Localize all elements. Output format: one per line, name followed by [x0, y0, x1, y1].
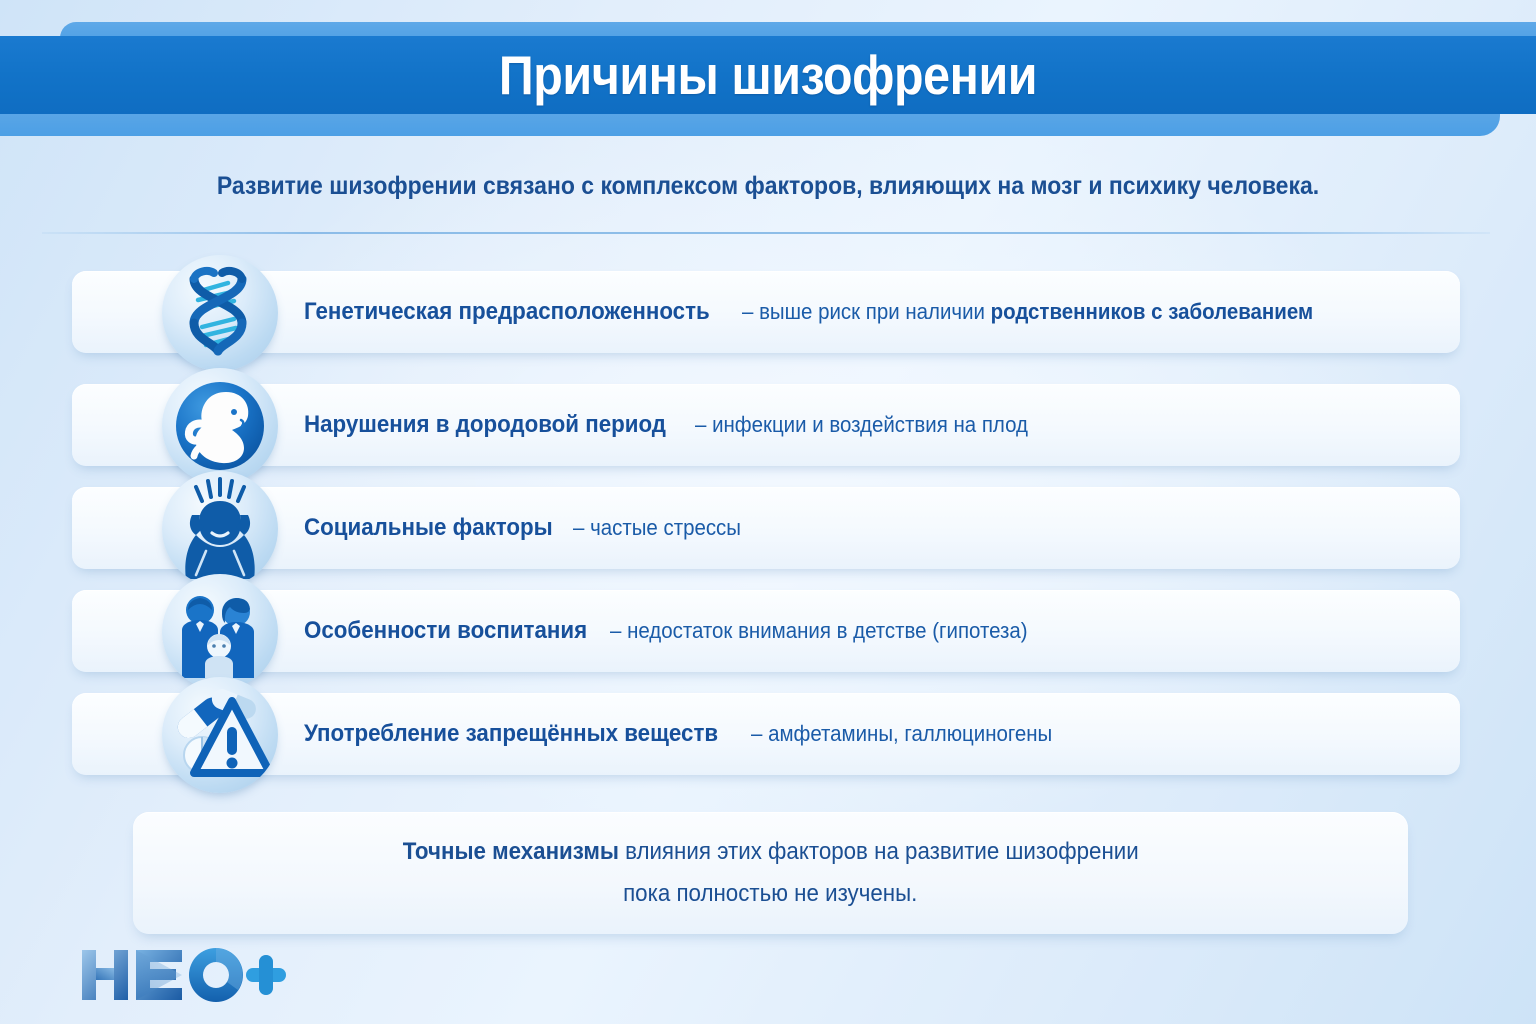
- row-desc: – выше риск при наличии родственников с …: [742, 299, 1313, 325]
- logo-neo-plus[interactable]: [78, 944, 288, 1006]
- list-item[interactable]: Нарушения в дородовой период – инфекции …: [72, 384, 1460, 466]
- row-text: Социальные факторы – частые стрессы: [304, 487, 754, 569]
- family-icon: [162, 574, 278, 690]
- row-desc: – частые стрессы: [573, 515, 741, 541]
- row-text: Особенности воспитания – недостаток вним…: [304, 590, 1059, 672]
- row-text: Генетическая предрасположенность – выше …: [304, 271, 1356, 353]
- row-desc: – недостаток внимания в детстве (гипотез…: [610, 618, 1028, 644]
- list-item[interactable]: Особенности воспитания – недостаток вним…: [72, 590, 1460, 672]
- pills-warning-icon: [162, 677, 278, 793]
- row-heading: Генетическая предрасположенность: [304, 298, 710, 326]
- row-desc: – амфетамины, галлюциногены: [751, 721, 1052, 747]
- row-heading: Употребление запрещённых веществ: [304, 720, 718, 748]
- row-heading: Особенности воспитания: [304, 617, 587, 645]
- row-text: Нарушения в дородовой период – инфекции …: [304, 384, 1053, 466]
- conclusion-line-2: пока полностью не изучены.: [623, 880, 917, 908]
- fetus-icon: [162, 368, 278, 484]
- row-heading: Социальные факторы: [304, 514, 553, 542]
- row-heading: Нарушения в дородовой период: [304, 411, 666, 439]
- row-text: Употребление запрещённых веществ – амфет…: [304, 693, 1075, 775]
- stress-head-icon: [162, 471, 278, 587]
- row-desc: – инфекции и воздействия на плод: [695, 412, 1028, 438]
- row-card: [72, 487, 1460, 569]
- list-item[interactable]: Генетическая предрасположенность – выше …: [72, 271, 1460, 353]
- conclusion-box: Точные механизмы влияния этих факторов н…: [133, 812, 1408, 934]
- list-item[interactable]: Употребление запрещённых веществ – амфет…: [72, 693, 1460, 775]
- conclusion-line-1: Точные механизмы влияния этих факторов н…: [402, 838, 1138, 866]
- dna-icon: [162, 255, 278, 371]
- infographic-page: Причины шизофрении Развитие шизофрении с…: [0, 0, 1536, 1024]
- list-item[interactable]: Социальные факторы – частые стрессы: [72, 487, 1460, 569]
